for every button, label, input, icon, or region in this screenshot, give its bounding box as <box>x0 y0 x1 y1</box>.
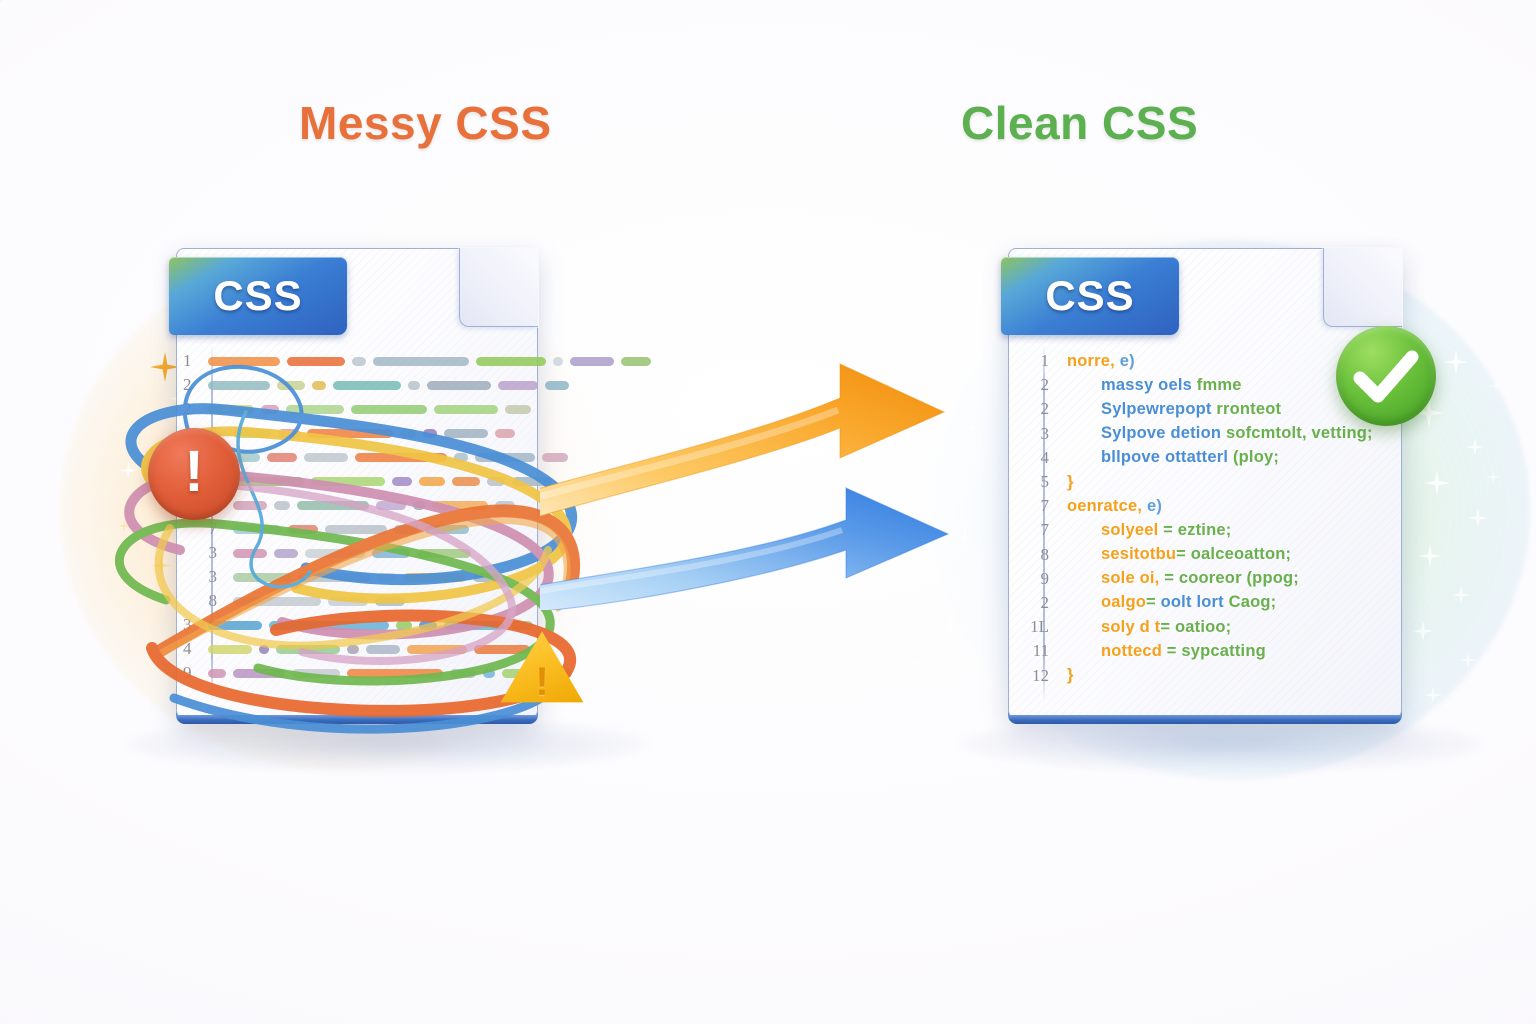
code-bar <box>475 453 535 462</box>
line-number: 5 <box>1015 472 1049 492</box>
code-bar-group <box>208 645 530 654</box>
line-number: 4 <box>183 639 192 659</box>
code-line-row: 3 <box>183 541 525 565</box>
code-token: sofcmtolt, vetting; <box>1226 424 1373 442</box>
code-bar <box>233 669 285 678</box>
code-bar-group <box>208 621 533 630</box>
line-number: 1L <box>1015 617 1049 637</box>
code-line-row: 4 <box>183 637 525 661</box>
code-line-row: 7oenratce, e) <box>1015 494 1391 518</box>
line-number: 7 <box>183 519 217 539</box>
code-token: e) <box>1147 497 1162 515</box>
line-number: 7 <box>1015 496 1049 516</box>
line-number: 2 <box>1015 375 1049 395</box>
code-bar <box>261 405 279 414</box>
error-icon[interactable]: ! <box>148 428 240 520</box>
code-bar <box>304 453 348 462</box>
code-token: rronteot <box>1216 400 1281 418</box>
line-number: 8 <box>1015 545 1049 565</box>
code-line-row: 7solyeel = eztine; <box>1015 518 1391 542</box>
code-bar <box>352 357 366 366</box>
code-line-text: sesitotbu= oalceoatton; <box>1067 545 1291 564</box>
code-bar <box>233 549 267 558</box>
messy-document-shadow <box>128 716 648 772</box>
line-number: 1 <box>183 351 192 371</box>
code-bar <box>288 525 318 534</box>
code-line-row: 1norre, e) <box>1015 349 1391 373</box>
code-line-text: Sylpove detion sofcmtolt, vetting; <box>1067 424 1373 443</box>
line-number: 1 <box>1015 351 1049 371</box>
code-line-text: massy oels fmme <box>1067 376 1242 395</box>
code-bar <box>432 501 488 510</box>
code-bar <box>434 405 498 414</box>
code-token: oels <box>1158 376 1197 394</box>
code-bar <box>419 477 445 486</box>
code-bar <box>267 453 297 462</box>
page-fold-corner <box>1323 248 1402 327</box>
code-bar-group <box>233 501 525 510</box>
code-bar <box>351 405 427 414</box>
line-number: 8 <box>183 591 217 611</box>
code-bar <box>297 501 369 510</box>
code-bar <box>404 573 466 582</box>
code-bar-group <box>208 381 569 390</box>
code-bar <box>407 645 467 654</box>
code-bar <box>372 549 410 558</box>
code-line-row: 9 <box>183 661 525 685</box>
code-line-text: } <box>1067 473 1074 492</box>
css-file-badge-label: CSS <box>1045 272 1134 320</box>
code-token: = oalceoatton; <box>1176 545 1291 563</box>
code-bar <box>333 381 401 390</box>
code-token: sesitotbu <box>1101 545 1176 563</box>
code-bar <box>269 621 389 630</box>
error-icon-glyph: ! <box>184 443 203 501</box>
code-bar-group <box>233 597 525 606</box>
code-line-text: nottecd = sypcatting <box>1067 642 1266 661</box>
css-file-badge: CSS <box>1001 257 1179 335</box>
code-bar <box>473 573 499 582</box>
code-line-text: } <box>1067 666 1074 685</box>
code-bar <box>498 381 538 390</box>
code-bar <box>413 501 425 510</box>
page-title-clean: Clean CSS <box>961 96 1198 150</box>
css-file-badge-label: CSS <box>213 272 302 320</box>
code-bar <box>274 501 290 510</box>
code-bar-group <box>208 453 568 462</box>
blue-arrow <box>540 488 948 610</box>
code-token: Sylpove detion <box>1101 424 1226 442</box>
code-line-row: 1 <box>183 349 525 373</box>
code-bar <box>394 525 418 534</box>
code-bar <box>287 357 345 366</box>
code-bar <box>392 477 412 486</box>
line-number: 2 <box>183 399 192 419</box>
code-bar-group <box>208 405 531 414</box>
code-bar <box>347 645 359 654</box>
code-line-row: 2massy oels fmme <box>1015 373 1391 397</box>
code-bar <box>452 477 480 486</box>
code-line-text: soly d t= oatioo; <box>1067 618 1231 637</box>
code-line-row: 11nottecd = sypcatting <box>1015 639 1391 663</box>
code-line-row: 2 <box>183 373 525 397</box>
code-bar <box>274 549 298 558</box>
code-bar <box>419 621 437 630</box>
code-token: nottecd <box>1101 642 1167 660</box>
code-bar <box>233 501 267 510</box>
code-token: } <box>1067 666 1074 684</box>
code-bar <box>444 429 488 438</box>
code-bar <box>312 381 326 390</box>
code-bar <box>505 405 531 414</box>
code-bar <box>208 669 226 678</box>
code-bar <box>259 645 269 654</box>
code-line-text: oenratce, e) <box>1067 497 1162 516</box>
page-title-messy: Messy CSS <box>299 96 552 150</box>
code-bar <box>377 573 397 582</box>
line-number: 12 <box>1015 666 1049 686</box>
code-bar <box>495 501 515 510</box>
code-bar-group <box>233 573 525 582</box>
code-line-row: 5} <box>1015 470 1391 494</box>
code-token: } <box>1067 473 1074 491</box>
code-bar-group <box>233 525 525 534</box>
code-bar <box>208 645 252 654</box>
code-token: oolt lort <box>1161 593 1229 611</box>
code-line-row: 2Sylpewrepopt rronteot <box>1015 397 1391 421</box>
code-bar <box>311 477 385 486</box>
success-check-icon[interactable] <box>1336 326 1436 426</box>
code-token: sole oi, <box>1101 569 1164 587</box>
code-bar <box>454 453 468 462</box>
css-file-badge: CSS <box>169 257 347 335</box>
code-bar <box>276 645 340 654</box>
code-line-row: 2oalgo= oolt lort Caog; <box>1015 591 1391 615</box>
code-bar <box>325 525 387 534</box>
check-glyph <box>1336 326 1436 426</box>
code-token: fmme <box>1197 376 1242 394</box>
code-bar <box>495 429 515 438</box>
code-line-text: oalgo= oolt lort Caog; <box>1067 593 1276 612</box>
line-number: 11 <box>1015 641 1049 661</box>
code-line-text: Sylpewrepopt rronteot <box>1067 400 1281 419</box>
code-bar <box>355 453 447 462</box>
code-line-text: sole oi, = cooreor (ppog; <box>1067 569 1299 588</box>
warning-icon-glyph: ! <box>535 662 548 702</box>
line-number: 9 <box>1015 569 1049 589</box>
code-bar <box>305 549 365 558</box>
code-token: oalgo <box>1101 593 1146 611</box>
code-line-row: 2 <box>183 397 525 421</box>
code-bar <box>233 597 321 606</box>
code-line-row: 4bllpove ottatterl (ploy; <box>1015 446 1391 470</box>
line-number: 2 <box>183 375 192 395</box>
code-line-row: 6 <box>183 421 525 445</box>
code-token: Sylpewrepopt <box>1101 400 1216 418</box>
code-bar <box>487 477 505 486</box>
code-line-row: 3 <box>183 613 525 637</box>
code-bar <box>208 381 270 390</box>
code-token: = eztine; <box>1163 521 1231 539</box>
code-bar-group <box>208 477 552 486</box>
code-bar-group <box>233 429 525 438</box>
code-bar <box>277 381 305 390</box>
code-token: = cooreor (ppog; <box>1164 569 1299 587</box>
orange-arrow <box>540 364 944 518</box>
code-bar <box>208 621 262 630</box>
code-bar-group <box>233 549 525 558</box>
transform-arrows <box>540 350 1020 610</box>
code-bar <box>427 381 491 390</box>
code-bar <box>483 669 495 678</box>
code-token: massy <box>1101 376 1158 394</box>
code-token: soly d t <box>1101 618 1160 636</box>
code-bar <box>286 405 344 414</box>
line-number: 9 <box>183 663 192 683</box>
code-token: bllpove ottatterl <box>1101 448 1233 466</box>
code-bar <box>408 381 420 390</box>
code-bar <box>233 525 281 534</box>
code-bar <box>450 669 476 678</box>
line-number: 3 <box>183 567 217 587</box>
code-bar <box>375 597 405 606</box>
code-token: (ploy; <box>1233 448 1279 466</box>
clean-css-document[interactable]: CSS 1norre, e)2massy oels fmme2Sylpewrep… <box>1008 248 1402 720</box>
code-bar <box>208 405 254 414</box>
line-number: 2 <box>1015 593 1049 613</box>
clean-document-shadow <box>960 716 1480 772</box>
code-bar <box>233 429 271 438</box>
code-bar <box>298 573 370 582</box>
warning-icon[interactable]: ! <box>498 628 586 708</box>
code-token: norre, <box>1067 352 1120 370</box>
code-line-row: 1Lsoly d t= oatioo; <box>1015 615 1391 639</box>
code-bar <box>292 669 340 678</box>
code-token: solyeel <box>1101 521 1163 539</box>
code-line-row: 3 <box>183 565 525 589</box>
line-number: 3 <box>183 615 192 635</box>
code-bar <box>423 429 437 438</box>
code-bar <box>444 621 504 630</box>
code-token: e) <box>1120 352 1135 370</box>
code-line-row: 9sole oi, = cooreor (ppog; <box>1015 567 1391 591</box>
code-bar <box>208 357 280 366</box>
code-bar <box>417 549 471 558</box>
code-bar <box>476 357 546 366</box>
line-number: 3 <box>183 543 217 563</box>
code-token: = <box>1146 593 1161 611</box>
code-line-row: 8 <box>183 589 525 613</box>
code-token: = sypcatting <box>1167 642 1266 660</box>
code-line-row: 3Sylpove detion sofcmtolt, vetting; <box>1015 422 1391 446</box>
line-number: 2 <box>1015 399 1049 419</box>
code-bar <box>400 429 416 438</box>
code-token: Caog; <box>1229 593 1277 611</box>
code-bar <box>278 429 300 438</box>
code-line-text: bllpove ottatterl (ploy; <box>1067 448 1279 467</box>
line-number: 7 <box>1015 520 1049 540</box>
code-token: = oatioo; <box>1160 618 1231 636</box>
line-number: 4 <box>1015 448 1049 468</box>
code-bar <box>307 429 393 438</box>
code-token: oenratce, <box>1067 497 1147 515</box>
code-line-row: 7 <box>183 517 525 541</box>
messy-code-rows: 12263447338349 <box>177 349 537 685</box>
code-line-text: norre, e) <box>1067 352 1135 371</box>
code-bar <box>347 669 443 678</box>
code-bar <box>233 573 291 582</box>
code-bar <box>366 645 400 654</box>
code-bar <box>328 597 368 606</box>
code-line-row: 4 <box>183 493 525 517</box>
page-fold-corner <box>459 248 538 327</box>
code-bar <box>396 621 412 630</box>
code-line-row: 12} <box>1015 663 1391 687</box>
code-bar <box>425 525 469 534</box>
line-number: 3 <box>1015 424 1049 444</box>
code-line-text: solyeel = eztine; <box>1067 521 1231 540</box>
code-line-row: 8sesitotbu= oalceoatton; <box>1015 543 1391 567</box>
code-bar <box>373 357 469 366</box>
code-bar <box>376 501 406 510</box>
